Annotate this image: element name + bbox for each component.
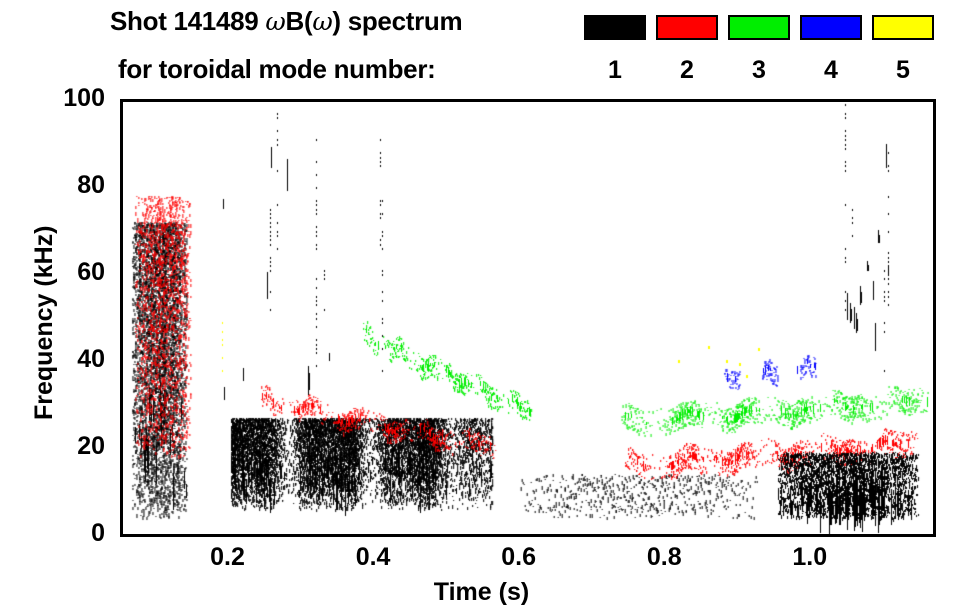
y-tick-label-100: 100 (45, 84, 105, 113)
legend-swatch-4 (800, 15, 862, 40)
spectrogram-figure: Shot 141489 ωB(ω) spectrum for toroidal … (0, 0, 963, 615)
legend-swatch-1 (584, 15, 646, 40)
x-axis-label: Time (s) (0, 578, 963, 607)
spectrogram-canvas (123, 102, 933, 534)
y-axis-label: Frequency (kHz) (30, 226, 59, 420)
y-tick-label-20: 20 (45, 432, 105, 461)
legend-label-2: 2 (656, 56, 718, 85)
x-tick-label-0.2: 0.2 (183, 543, 273, 572)
spectrogram-plot-area (123, 102, 933, 534)
x-tick-label-0.8: 0.8 (619, 543, 709, 572)
y-tick-label-0: 0 (45, 519, 105, 548)
legend-label-3: 3 (728, 56, 790, 85)
legend-swatch-5 (872, 15, 934, 40)
y-tick-label-80: 80 (45, 171, 105, 200)
x-tick-label-1.0: 1.0 (765, 543, 855, 572)
axis-bottom (120, 534, 936, 537)
x-tick-label-0.6: 0.6 (474, 543, 564, 572)
legend-label-4: 4 (800, 56, 862, 85)
legend-label-1: 1 (584, 56, 646, 85)
legend-swatch-3 (728, 15, 790, 40)
x-tick-label-0.4: 0.4 (328, 543, 418, 572)
y-tick-major (921, 534, 934, 537)
legend-swatch-2 (656, 15, 718, 40)
legend: 12345 (0, 0, 963, 96)
legend-label-5: 5 (872, 56, 934, 85)
y-tick-major (123, 534, 136, 537)
